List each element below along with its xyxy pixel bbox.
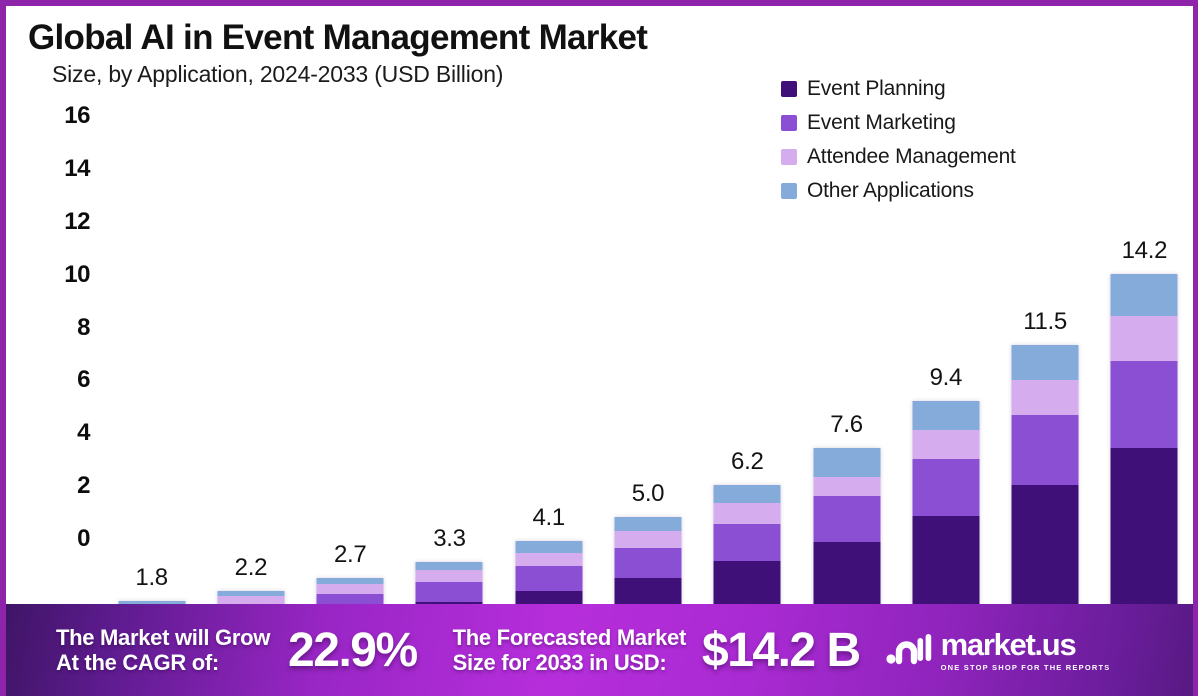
legend-item[interactable]: Event Planning xyxy=(781,72,1111,106)
bar-segment[interactable] xyxy=(515,541,582,553)
bar-segment[interactable] xyxy=(912,401,979,430)
legend-swatch-icon xyxy=(781,81,797,97)
bar-segment[interactable] xyxy=(515,566,582,591)
cagr-label: The Market will Grow At the CAGR of: xyxy=(56,625,270,676)
bar-segment[interactable] xyxy=(416,562,483,570)
bar-segment[interactable] xyxy=(416,582,483,602)
bar-value-label: 14.2 xyxy=(1122,237,1168,265)
y-axis-tick-label: 16 xyxy=(36,102,90,130)
bar-segment[interactable] xyxy=(515,553,582,567)
bar-value-label: 5.0 xyxy=(632,480,664,508)
bar-segment[interactable] xyxy=(813,496,880,542)
bar-value-label: 11.5 xyxy=(1023,308,1067,336)
forecast-label-line2: Size for 2033 in USD: xyxy=(453,650,686,675)
legend-item-label: Event Planning xyxy=(807,77,945,101)
cagr-label-line1: The Market will Grow xyxy=(56,625,270,650)
brand-tagline: ONE STOP SHOP FOR THE REPORTS xyxy=(941,663,1111,672)
forecast-label-line1: The Forecasted Market xyxy=(453,625,686,650)
bar-segment[interactable] xyxy=(1111,316,1178,360)
bar-segment[interactable] xyxy=(1111,274,1178,317)
brand-name: market.us xyxy=(941,629,1111,660)
bar-segment[interactable] xyxy=(813,477,880,496)
y-axis-tick-label: 0 xyxy=(36,525,90,553)
bar-value-label: 2.2 xyxy=(235,554,267,582)
forecast-label: The Forecasted Market Size for 2033 in U… xyxy=(453,625,686,676)
bar-segment[interactable] xyxy=(714,503,781,524)
bar-segment[interactable] xyxy=(912,459,979,516)
stacked-bar[interactable] xyxy=(1111,274,1178,649)
page-title: Global AI in Event Management Market xyxy=(28,20,1193,57)
bar-segment[interactable] xyxy=(912,430,979,459)
y-axis-tick-label: 14 xyxy=(36,155,90,183)
forecast-value: $14.2 B xyxy=(702,623,860,678)
y-axis-tick-label: 6 xyxy=(36,366,90,394)
cagr-value: 22.9% xyxy=(288,623,417,678)
bar-segment[interactable] xyxy=(317,578,384,585)
market-us-logo-icon xyxy=(886,630,932,671)
y-axis-tick-label: 8 xyxy=(36,314,90,342)
bar-value-label: 2.7 xyxy=(334,541,366,569)
bar-segment[interactable] xyxy=(1012,380,1079,415)
y-axis-tick-label: 12 xyxy=(36,208,90,236)
bar-series-container: 1.820232.220242.720253.320264.120275.020… xyxy=(102,226,1194,649)
bar-segment[interactable] xyxy=(1012,415,1079,485)
bar-segment[interactable] xyxy=(416,570,483,581)
bar-segment[interactable] xyxy=(813,448,880,477)
footer-banner: The Market will Grow At the CAGR of: 22.… xyxy=(6,604,1198,696)
bar-value-label: 3.3 xyxy=(433,525,465,553)
bar-segment[interactable] xyxy=(217,596,284,603)
bar-value-label: 9.4 xyxy=(930,364,962,392)
bar-segment[interactable] xyxy=(615,517,682,531)
plot-area: 0246810121416 1.820232.220242.720253.320… xyxy=(6,116,1198,546)
bar-value-label: 7.6 xyxy=(830,411,862,439)
y-axis-tick-label: 10 xyxy=(36,261,90,289)
bar-segment[interactable] xyxy=(714,524,781,562)
y-axis: 0246810121416 xyxy=(36,116,90,546)
brand-text: market.us ONE STOP SHOP FOR THE REPORTS xyxy=(941,629,1111,672)
bar-segment[interactable] xyxy=(317,584,384,593)
bar-segment[interactable] xyxy=(615,531,682,548)
bar-value-label: 4.1 xyxy=(532,504,564,532)
bar-segment[interactable] xyxy=(615,548,682,578)
y-axis-tick-label: 2 xyxy=(36,472,90,500)
bar-segment[interactable] xyxy=(714,485,781,502)
bar-value-label: 6.2 xyxy=(731,448,763,476)
brand-logo: market.us ONE STOP SHOP FOR THE REPORTS xyxy=(886,629,1111,672)
infographic-root: Global AI in Event Management Market Siz… xyxy=(0,0,1198,696)
bar-segment[interactable] xyxy=(1111,361,1178,448)
y-axis-tick-label: 4 xyxy=(36,419,90,447)
bar-segment[interactable] xyxy=(1012,345,1079,380)
bar-value-label: 1.8 xyxy=(135,564,167,592)
cagr-label-line2: At the CAGR of: xyxy=(56,650,270,675)
